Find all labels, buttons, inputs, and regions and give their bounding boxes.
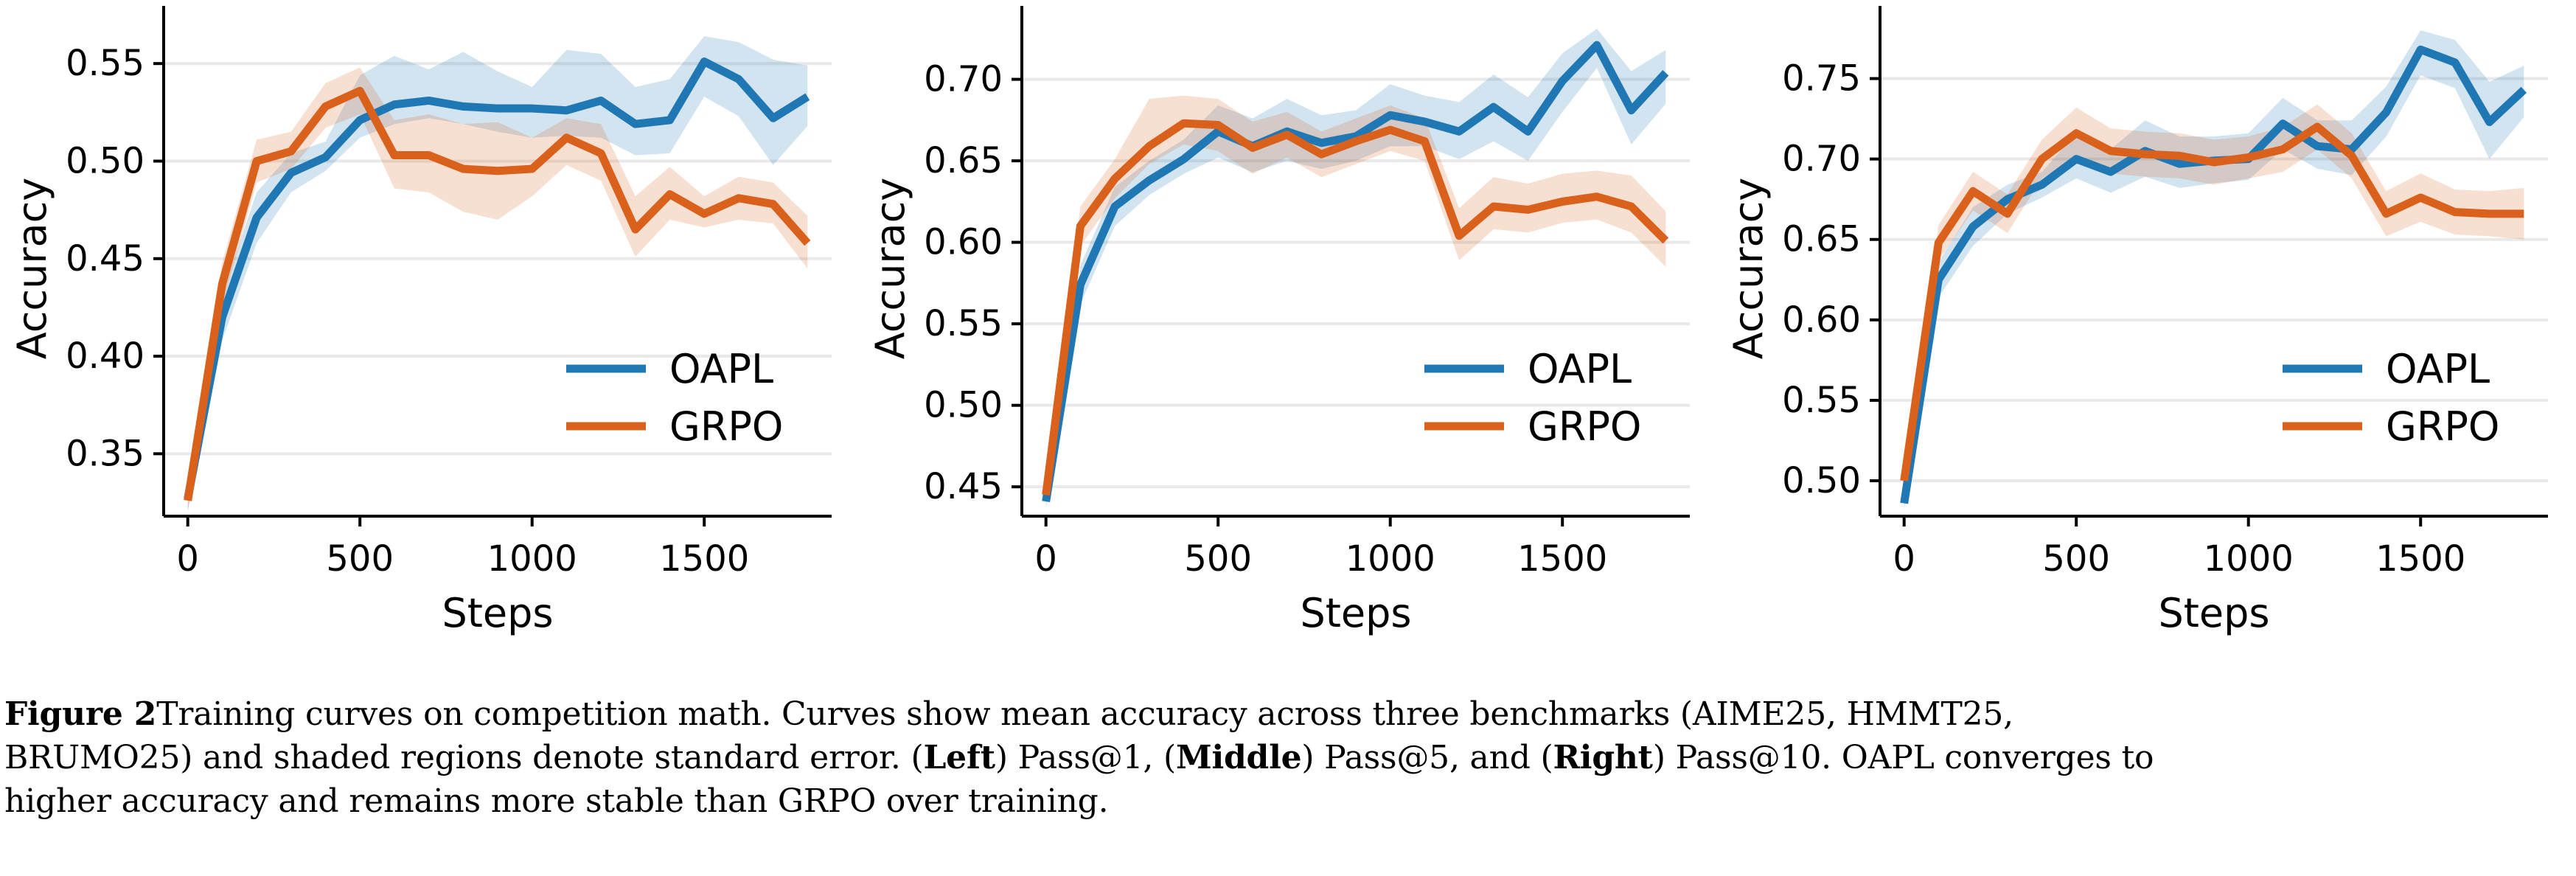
panel-left-svg: 0.350.400.450.500.55050010001500StepsAcc… (0, 0, 858, 649)
caption-text-3: higher accuracy and remains more stable … (4, 782, 1108, 820)
panel-middle-pass-at-5: 0.450.500.550.600.650.70050010001500Step… (858, 0, 1716, 649)
ytick-label-4: 0.70 (1782, 139, 1861, 180)
x-axis-label: Steps (1300, 590, 1411, 636)
xtick-label-2: 1000 (2204, 538, 2294, 580)
legend-label-grpo: GRPO (2386, 403, 2499, 450)
figure-caption: Figure 2Training curves on competition m… (4, 693, 2576, 824)
figure-label: Figure 2 (4, 695, 156, 733)
panel-right-pass-at-10: 0.500.550.600.650.700.75050010001500Step… (1716, 0, 2575, 649)
ytick-label-3: 0.50 (66, 140, 145, 181)
caption-text-2d: ) Pass@10. OAPL converges to (1653, 739, 2154, 776)
caption-bold-left: Left (923, 739, 995, 776)
ytick-label-3: 0.60 (924, 222, 1003, 263)
clip-right (2548, 0, 2575, 649)
caption-line-3: higher accuracy and remains more stable … (4, 782, 1108, 820)
xtick-label-3: 1500 (659, 538, 749, 580)
xtick-label-2: 1000 (487, 538, 577, 580)
xtick-label-0: 0 (1034, 538, 1057, 580)
legend-label-oapl: OAPL (2386, 346, 2490, 392)
ytick-label-2: 0.45 (66, 238, 145, 279)
caption-bold-middle: Middle (1176, 739, 1301, 776)
legend-label-oapl: OAPL (1528, 346, 1632, 392)
ytick-label-5: 0.70 (924, 59, 1003, 100)
x-axis-label: Steps (442, 590, 553, 636)
ytick-label-2: 0.60 (1782, 299, 1861, 341)
xtick-label-3: 1500 (2375, 538, 2465, 580)
caption-text-2a: BRUMO25) and shaded regions denote stand… (4, 739, 923, 776)
caption-bold-right: Right (1553, 739, 1652, 776)
panel-row: 0.350.400.450.500.55050010001500StepsAcc… (0, 0, 2576, 649)
xtick-label-3: 1500 (1517, 538, 1607, 580)
figure-2-root: 0.350.400.450.500.55050010001500StepsAcc… (0, 0, 2576, 876)
ytick-label-3: 0.65 (1782, 219, 1861, 260)
ytick-label-4: 0.55 (66, 43, 145, 84)
caption-line-2: BRUMO25) and shaded regions denote stand… (4, 739, 2154, 776)
xtick-label-1: 500 (1184, 538, 1252, 580)
ytick-label-1: 0.40 (66, 336, 145, 377)
clip-right (832, 0, 858, 649)
legend-label-grpo: GRPO (1528, 403, 1641, 450)
clip-right (1690, 0, 1716, 649)
ytick-label-0: 0.45 (924, 466, 1003, 507)
panel-right-svg: 0.500.550.600.650.700.75050010001500Step… (1716, 0, 2575, 649)
ytick-label-1: 0.50 (924, 385, 1003, 426)
y-axis-label: Accuracy (1725, 178, 1772, 360)
ytick-label-1: 0.55 (1782, 380, 1861, 421)
caption-text-1: Training curves on competition math. Cur… (156, 695, 2013, 733)
ytick-label-0: 0.50 (1782, 460, 1861, 501)
legend-label-oapl: OAPL (669, 346, 773, 392)
ytick-label-5: 0.75 (1782, 58, 1861, 100)
caption-text-2c: ) Pass@5, and ( (1301, 739, 1553, 776)
y-axis-label: Accuracy (867, 178, 913, 360)
legend-label-grpo: GRPO (669, 403, 783, 450)
y-axis-label: Accuracy (9, 178, 55, 360)
xtick-label-1: 500 (326, 538, 394, 580)
panel-left-pass-at-1: 0.350.400.450.500.55050010001500StepsAcc… (0, 0, 858, 649)
caption-text-2b: ) Pass@1, ( (995, 739, 1176, 776)
caption-line-1: Figure 2Training curves on competition m… (4, 695, 2013, 733)
xtick-label-2: 1000 (1346, 538, 1435, 580)
xtick-label-0: 0 (176, 538, 199, 580)
panel-middle-svg: 0.450.500.550.600.650.70050010001500Step… (858, 0, 1716, 649)
ytick-label-0: 0.35 (66, 433, 145, 474)
xtick-label-0: 0 (1893, 538, 1915, 580)
xtick-label-1: 500 (2042, 538, 2110, 580)
ytick-label-4: 0.65 (924, 140, 1003, 181)
ytick-label-2: 0.55 (924, 303, 1003, 344)
x-axis-label: Steps (2158, 590, 2269, 636)
